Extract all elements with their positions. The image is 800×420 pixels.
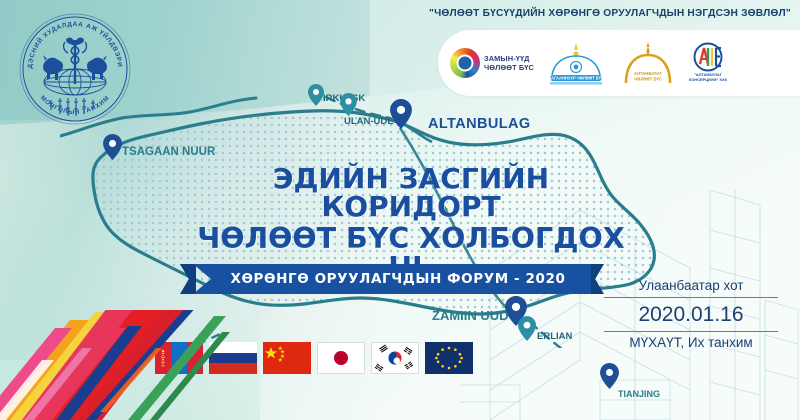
zamyn-uud-globe-icon — [450, 48, 480, 78]
partner-logo-zamyn-uud[interactable]: ЗАМЫН-ҮҮД ЧӨЛӨӨТ БҮС — [450, 48, 534, 78]
mongolian-chamber-of-commerce-logo: ҮНДЭСНИЙ ХУДАЛДАА АЖ ҮЙЛДВЭРИЙН МОНГОЛЫН… — [16, 10, 134, 128]
flag-china — [263, 342, 311, 374]
svg-text:МОНГОЛЫН ТАНХИМ: МОНГОЛЫН ТАНХИМ — [39, 94, 111, 116]
map-label-erlian: ERLIAN — [537, 331, 572, 342]
flag-japan — [317, 342, 365, 374]
top-banner-text: "ЧӨЛӨӨТ БҮСҮҮДИЙН ХӨРӨНГӨ ОРУУЛАГЧДЫН НЭ… — [420, 8, 800, 19]
map-pin-altanbulag[interactable] — [390, 99, 412, 129]
partner-logo-altanbulag-consortium[interactable]: "АЛТАНБУЛАГ КОНСЕРЦИУМ" ХХК — [688, 42, 728, 84]
map-pin-irkutsk[interactable] — [308, 84, 324, 106]
partner-logo-zamyn-uud-line1: ЗАМЫН-ҮҮД — [484, 54, 534, 63]
svg-text:ЦАГААННУУР ЧӨЛӨӨТ БҮС: ЦАГААННУУР ЧӨЛӨӨТ БҮС — [548, 76, 604, 81]
title-line-1: ЭДИЙН ЗАСГИЙН КОРИДОРТ — [192, 166, 631, 221]
map-label-altanbulag: ALTANBULAG — [428, 116, 531, 132]
map-pin-ulan-ude[interactable] — [340, 93, 357, 116]
event-info-block: Улаанбаатар хот 2020.01.16 МҮХАҮТ, Их та… — [604, 278, 778, 350]
map-pin-erlian[interactable] — [518, 316, 536, 341]
forum-ribbon: ХӨРӨНГӨ ОРУУЛАГЧДЫН ФОРУМ - 2020 — [193, 264, 591, 294]
tsagaannuur-arch-icon: ЦАГААННУУР ЧӨЛӨӨТ БҮС — [544, 41, 608, 85]
map-label-tsagaan-nuur: TSAGAAN NUUR — [122, 146, 215, 158]
partner-logo-tsagaannuur[interactable]: ЦАГААННУУР ЧӨЛӨӨТ БҮС — [544, 41, 608, 85]
svg-text:КОНСЕРЦИУМ" ХХК: КОНСЕРЦИУМ" ХХК — [689, 77, 728, 82]
map-pin-tsagaan-nuur[interactable] — [103, 134, 122, 160]
event-date: 2020.01.16 — [604, 298, 778, 331]
poster-canvas: IRKUTSK ULAN-UDE ALTANBULAG TSAGAAN NUUR… — [0, 0, 800, 420]
flag-south-korea — [371, 342, 419, 374]
svg-text:ЧӨЛӨӨТ БҮС: ЧӨЛӨӨТ БҮС — [634, 77, 662, 82]
event-city: Улаанбаатар хот — [604, 278, 778, 297]
altanbulag-consortium-icon: "АЛТАНБУЛАГ КОНСЕРЦИУМ" ХХК — [688, 42, 728, 84]
partner-logo-zamyn-uud-line2: ЧӨЛӨӨТ БҮС — [484, 63, 534, 72]
map-label-ulan-ude: ULAN-UDE — [344, 116, 394, 127]
altanbulag-dome-icon: АЛТАНБУЛАГ ЧӨЛӨӨТ БҮС — [620, 41, 676, 85]
decorative-stripes — [0, 310, 230, 420]
partner-logo-strip: ЗАМЫН-ҮҮД ЧӨЛӨӨТ БҮС ЦАГААННУУР ЧӨЛӨӨТ Б… — [438, 30, 800, 96]
map-pin-tianjing[interactable] — [600, 363, 619, 389]
event-venue: МҮХАҮТ, Их танхим — [604, 332, 778, 350]
svg-text:АЛТАНБУЛАГ: АЛТАНБУЛАГ — [634, 71, 663, 76]
flag-european-union — [425, 342, 473, 374]
ribbon-label: ХӨРӨНГӨ ОРУУЛАГЧДЫН ФОРУМ - 2020 — [218, 271, 565, 287]
ribbon-body: ХӨРӨНГӨ ОРУУЛАГЧДЫН ФОРУМ - 2020 — [193, 264, 591, 294]
map-label-tianjing: TIANJING — [618, 389, 660, 399]
map-label-zamiin-uud: ZAMIIN UUD — [432, 308, 509, 323]
partner-logo-altanbulag[interactable]: АЛТАНБУЛАГ ЧӨЛӨӨТ БҮС — [620, 41, 676, 85]
